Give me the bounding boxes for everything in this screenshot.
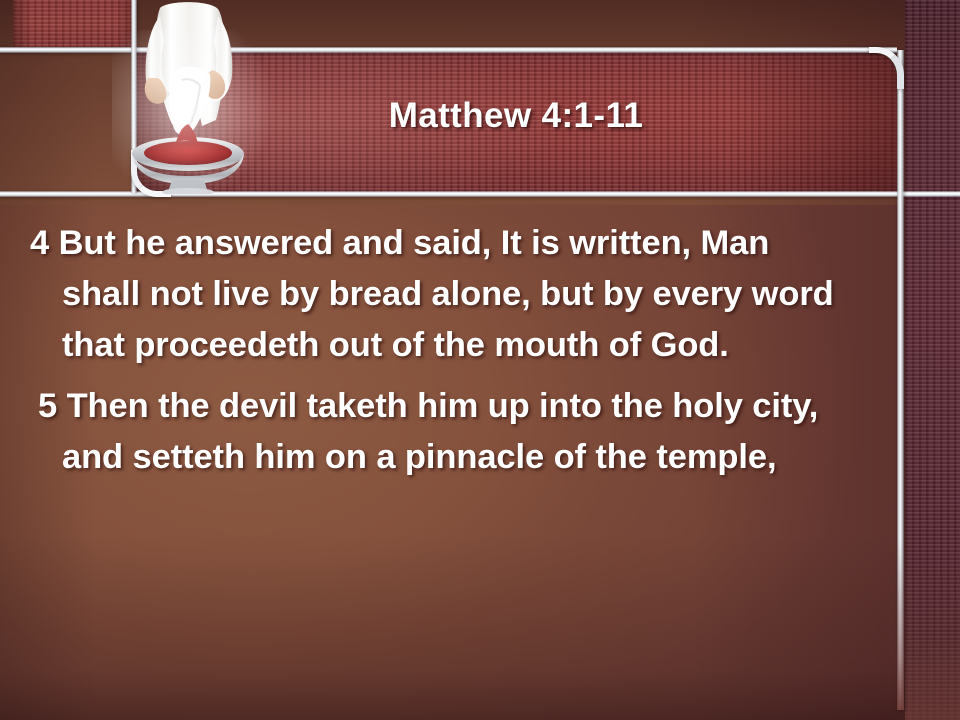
scripture-slide: Matthew 4:1-11 4 But he answered and sai… [0,0,960,720]
fabric-texture [905,0,960,720]
frame-bar-top-left [0,47,137,53]
verse-body: 4 But he answered and said, It is writte… [0,218,900,483]
page-title: Matthew 4:1-11 [135,96,897,136]
verse-4: 4 But he answered and said, It is writte… [0,218,900,371]
basin-liquid [144,141,232,165]
right-maroon-column [905,0,960,720]
corner-red-swatch [13,0,134,47]
frame-bar-top-right [137,47,897,53]
fabric-texture [13,0,134,47]
verse-5: 5 Then the devil taketh him up into the … [0,381,900,483]
